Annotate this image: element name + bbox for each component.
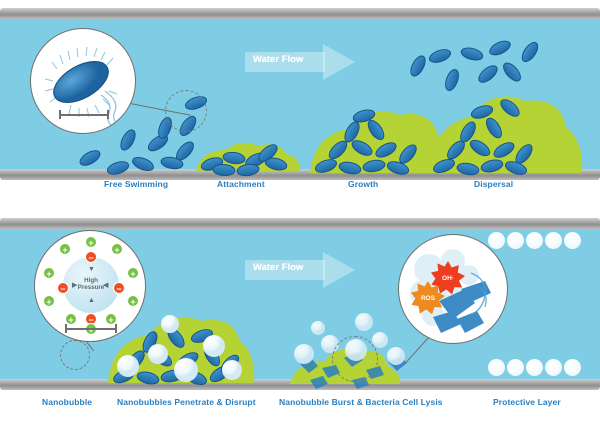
pressure-arrow-left: ◀ <box>103 282 108 289</box>
nanobubble-magnified-circle: High Pressure ▼ ▲ ▶ ◀ − − − − + + + + + … <box>34 230 146 342</box>
bacterium-detail <box>31 29 136 134</box>
negative-charge: − <box>113 282 125 294</box>
stage-label-dispersal: Dispersal <box>474 179 513 189</box>
pressure-arrow-up: ▲ <box>88 297 95 304</box>
water-flow-arrow-top: Water Flow <box>245 44 355 80</box>
positive-charge: + <box>43 295 55 307</box>
positive-charge: + <box>85 236 97 248</box>
wall-bubble <box>488 232 505 249</box>
ros-label: ROS <box>421 295 435 302</box>
water-flow-arrow-bottom: Water Flow <box>245 252 355 288</box>
stage-labels-nanobubble: Nanobubble Nanobubbles Penetrate & Disru… <box>0 397 600 413</box>
arrow-head <box>323 44 355 80</box>
stage-label-growth: Growth <box>348 179 378 189</box>
stage-label-penetrate-disrupt: Nanobubbles Penetrate & Disrupt <box>117 397 256 407</box>
wall-bubble <box>564 232 581 249</box>
stage-label-nanobubble: Nanobubble <box>42 397 92 407</box>
negative-charge: − <box>85 251 97 263</box>
water-flow-label-top: Water Flow <box>253 54 303 65</box>
positive-charge: + <box>127 267 139 279</box>
positive-charge: + <box>59 243 71 255</box>
stage-label-protective-layer: Protective Layer <box>493 397 561 407</box>
positive-charge: + <box>111 243 123 255</box>
wall-bubble <box>526 359 543 376</box>
pressure-arrow-down: ▼ <box>88 266 95 273</box>
callout-highlight-circle-lysis <box>332 336 378 382</box>
pipe-biofilm-formation: Water Flow <box>0 8 600 180</box>
stage-label-free-swimming: Free Swimming <box>104 179 168 189</box>
high-pressure-core: High Pressure ▼ ▲ ▶ ◀ <box>63 257 119 313</box>
oh-label: OH· <box>442 275 454 282</box>
dispersal-cluster <box>408 38 582 177</box>
cell-lysis-magnified-circle: ROS OH· <box>398 234 508 344</box>
wall-bubble <box>507 232 524 249</box>
pipe-nanobubble-treatment: Water Flow High Pressure ▼ ▲ ▶ ◀ − − − −… <box>0 218 600 390</box>
wall-bubble <box>545 232 562 249</box>
stage-label-burst-lysis: Nanobubble Burst & Bacteria Cell Lysis <box>279 397 443 407</box>
wall-bubble <box>545 359 562 376</box>
positive-charge: + <box>65 313 77 325</box>
attachment-cluster <box>196 142 300 177</box>
scale-bar-bacterium <box>59 114 109 116</box>
disrupted-biofilm-cluster <box>108 315 254 387</box>
negative-charge: − <box>57 282 69 294</box>
arrow-head <box>323 252 355 288</box>
bacterium-magnified-circle <box>30 28 136 134</box>
wall-bubble <box>488 359 505 376</box>
callout-highlight-circle-top <box>165 90 207 132</box>
stage-label-attachment: Attachment <box>217 179 265 189</box>
dispersing-bacteria <box>408 38 541 92</box>
positive-charge: + <box>105 313 117 325</box>
wall-bubble <box>507 359 524 376</box>
positive-charge: + <box>43 267 55 279</box>
positive-charge: + <box>127 295 139 307</box>
scale-bar-nanobubble <box>65 328 117 330</box>
callout-highlight-circle-nanobubble <box>60 340 90 370</box>
pressure-arrow-right: ▶ <box>72 282 77 289</box>
wall-bubble <box>526 232 543 249</box>
water-flow-label-bottom: Water Flow <box>253 262 303 273</box>
bacterium-body <box>47 53 115 111</box>
wall-bubble <box>564 359 581 376</box>
stage-labels-biofilm: Free Swimming Attachment Growth Dispersa… <box>0 179 600 195</box>
